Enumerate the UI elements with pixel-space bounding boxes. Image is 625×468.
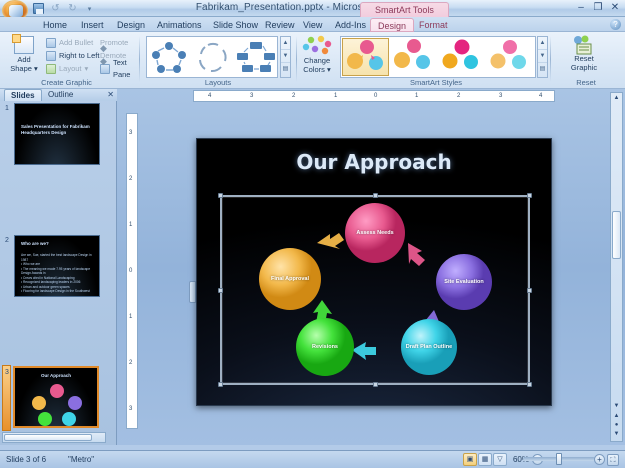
smartart-placeholder-frame[interactable]: Assess Needs Site Evaluation Draft Plan … [220, 195, 530, 385]
add-bullet-label: Add Bullet [59, 37, 93, 49]
main-vertical-scrollbar[interactable]: ▲ ▼ ▲ ● ▼ [610, 92, 623, 442]
style-preview-icon-3 [438, 38, 483, 74]
layouts-gallery-scroll[interactable]: ▲ ▼ ▤ [280, 36, 291, 78]
ribbon-group-layouts: ▲ ▼ ▤ Layouts [144, 33, 292, 87]
window-controls: – ❐ ✕ [574, 1, 622, 14]
right-to-left-label: Right to Left [59, 50, 99, 62]
smartart-style-option-3[interactable] [438, 38, 485, 76]
arrow-final-to-assess [317, 233, 344, 249]
right-to-left-button[interactable]: Right to Left [46, 49, 102, 62]
slides-pane-tabs: Slides Outline ✕ [0, 89, 117, 101]
slide-number-2: 2 [2, 237, 12, 244]
layout-option-2[interactable] [192, 38, 234, 76]
slide-thumbnail-list[interactable]: 1 Sales Presentation for Fabrikam Headqu… [0, 101, 108, 445]
change-colors-icon [302, 35, 332, 57]
slide-sorter-icon[interactable]: ▦ [478, 453, 492, 466]
hruler-tick-3r: 3 [499, 93, 502, 99]
vruler-tick-0: 0 [129, 268, 132, 274]
layout-option-1[interactable] [148, 38, 190, 76]
group-label-reset: Reset [556, 78, 616, 87]
vruler-tick-2t: 2 [129, 176, 132, 182]
add-shape-label-2: Shape [10, 64, 32, 73]
smartart-style-option-4[interactable] [486, 38, 533, 76]
style-preview-icon-4 [486, 38, 531, 74]
hruler-tick-4r: 4 [539, 93, 542, 99]
hruler-tick-2l: 2 [292, 93, 295, 99]
gallery-more-icon[interactable]: ▤ [281, 63, 290, 76]
add-bullet-button[interactable]: Add Bullet [46, 36, 102, 49]
smartart-node-revisions[interactable]: Revisions [301, 336, 349, 358]
tab-review[interactable]: Review [258, 18, 302, 32]
view-buttons: ▣ ▦ ▽ [463, 453, 507, 466]
hruler-tick-3l: 3 [250, 93, 253, 99]
vruler-tick-2b: 2 [129, 360, 132, 366]
block-cycle-icon [235, 38, 277, 76]
smartart-styles-scroll[interactable]: ▲ ▼ ▤ [537, 36, 548, 78]
vruler-tick-1b: 1 [129, 314, 132, 320]
add-shape-button[interactable]: Add Shape ▾ [6, 35, 42, 77]
smartart-style-option-2[interactable] [390, 38, 437, 76]
thumbnail-image-3[interactable]: Our Approach [13, 366, 99, 428]
segmented-cycle-icon [192, 38, 234, 76]
layout-icon [46, 64, 56, 74]
document-title: Fabrikam_Presentation.pptx - Microsoft P… [0, 2, 625, 13]
scroll-down-icon[interactable]: ▼ [612, 402, 621, 411]
tab-insert[interactable]: Insert [74, 18, 111, 32]
zoom-in-icon[interactable]: + [594, 454, 605, 465]
slides-pane: Slides Outline ✕ 1 Sales Presentation fo… [0, 89, 117, 445]
thumb-smartart-icon-3 [15, 382, 99, 426]
fit-to-window-icon[interactable]: ⛶ [607, 454, 619, 466]
slide-thumbnail-3[interactable]: 3 Our Approach [0, 365, 108, 431]
theme-name: "Metro" [68, 455, 94, 464]
vertical-ruler[interactable]: 3 2 1 0 1 2 3 [126, 113, 138, 429]
normal-view-icon[interactable]: ▣ [463, 453, 477, 466]
arrow-assess-to-site [408, 243, 425, 266]
tab-design[interactable]: Design [110, 18, 152, 32]
text-pane-toggle-tab[interactable] [189, 281, 196, 303]
next-slide-icon[interactable]: ▼ [612, 430, 621, 439]
hruler-tick-0: 0 [374, 93, 377, 99]
slide-editing-canvas[interactable]: Our Approach [196, 138, 552, 406]
styles-scroll-up-icon[interactable]: ▲ [538, 37, 547, 50]
restore-icon[interactable]: ❐ [591, 1, 605, 14]
style-preview-icon-1 [343, 39, 388, 75]
layouts-gallery[interactable] [146, 36, 278, 78]
thumb-title-3: Our Approach [15, 373, 97, 379]
ribbon-group-smartart-styles: Change Colors ▾ [296, 33, 550, 87]
ribbon-group-create-graphic: Add Shape ▾ Add Bullet Right to Left Lay… [0, 33, 133, 87]
slide-indicator: Slide 3 of 6 [6, 455, 46, 464]
close-icon[interactable]: ✕ [608, 1, 622, 14]
vruler-tick-3t: 3 [129, 130, 132, 136]
layout-option-3[interactable] [235, 38, 277, 76]
scroll-up-icon[interactable]: ▲ [612, 94, 621, 103]
tab-smartart-design[interactable]: Design [370, 18, 414, 32]
ribbon-tab-strip: Home Insert Design Animations Slide Show… [0, 17, 625, 32]
title-bar: ↺ ↻ ▾ Fabrikam_Presentation.pptx - Micro… [0, 0, 625, 17]
thumb-title-2: Who are we? [21, 241, 94, 247]
change-colors-button[interactable]: Change Colors ▾ [298, 35, 336, 79]
zoom-slider-handle[interactable] [556, 453, 562, 465]
create-graphic-left-column: Add Bullet Right to Left Layout ▾ [46, 36, 102, 75]
previous-slide-icon[interactable]: ▲ [612, 412, 621, 421]
slide-thumbnail-1[interactable]: 1 Sales Presentation for Fabrikam Headqu… [0, 101, 108, 167]
smartart-node-site-evaluation[interactable]: Site Evaluation [440, 269, 488, 295]
hruler-tick-2r: 2 [457, 93, 460, 99]
right-to-left-icon [46, 51, 56, 61]
smartart-styles-gallery[interactable] [340, 36, 536, 78]
powerpoint-window: ↺ ↻ ▾ Fabrikam_Presentation.pptx - Micro… [0, 0, 625, 468]
slide-show-icon[interactable]: ▽ [493, 453, 507, 466]
tab-view[interactable]: View [296, 18, 329, 32]
smartart-style-option-1[interactable] [342, 38, 389, 76]
slide-title-text[interactable]: Our Approach [197, 150, 551, 174]
layout-label: Layout [59, 63, 82, 75]
horizontal-ruler[interactable]: 4 3 2 1 0 1 2 3 4 [193, 90, 555, 102]
group-separator-3 [550, 36, 551, 82]
vruler-tick-3b: 3 [129, 406, 132, 412]
hruler-tick-1l: 1 [334, 93, 337, 99]
text-pane-label: Text Pane [113, 57, 146, 81]
tab-smartart-format[interactable]: Format [412, 18, 455, 32]
smartart-node-draft-plan-outline[interactable]: Draft Plan Outline [405, 334, 453, 360]
slides-pane-close-icon[interactable]: ✕ [107, 90, 114, 99]
vertical-scroll-thumb[interactable] [612, 211, 621, 259]
slide-number-1: 1 [2, 105, 12, 112]
reset-graphic-label-2: Graphic [571, 63, 597, 72]
smartart-node-final-approval[interactable]: Final Approval [266, 266, 314, 292]
arrow-draft-to-revisions [352, 342, 376, 360]
group-separator-1 [139, 36, 140, 82]
thumb-body-2: Are we, Sue, started the best landscape … [21, 253, 94, 294]
group-label-layouts: Layouts [144, 78, 292, 87]
thumb-title-1: Sales Presentation for Fabrikam Headquar… [21, 124, 94, 136]
add-bullet-icon [46, 38, 56, 48]
contextual-tab-group-label: SmartArt Tools [360, 2, 449, 18]
group-label-smartart-styles: SmartArt Styles [336, 78, 536, 87]
cycle-diagram-icon [148, 38, 190, 76]
reset-graphic-icon [572, 35, 596, 55]
slides-pane-horizontal-scrollbar[interactable] [2, 432, 106, 443]
tab-animations[interactable]: Animations [150, 18, 209, 32]
ribbon: Add Shape ▾ Add Bullet Right to Left Lay… [0, 32, 625, 89]
slide-number-3: 3 [2, 369, 12, 376]
smartart-node-assess-needs[interactable]: Assess Needs [350, 219, 400, 247]
slides-pane-scroll-thumb[interactable] [4, 434, 92, 441]
group-label-create-graphic: Create Graphic [0, 78, 133, 87]
tab-outline[interactable]: Outline [42, 89, 79, 101]
change-colors-label-2: Colors [303, 65, 325, 74]
reset-graphic-button[interactable]: Reset Graphic [562, 35, 606, 79]
zoom-slider[interactable] [523, 457, 595, 461]
ribbon-group-reset: Reset Graphic Reset [556, 33, 616, 87]
thumbnail-image-1[interactable]: Sales Presentation for Fabrikam Headquar… [14, 103, 100, 165]
layout-button[interactable]: Layout ▾ [46, 62, 102, 75]
help-icon[interactable]: ? [610, 19, 621, 30]
style-preview-icon-2 [390, 38, 435, 74]
add-shape-icon [14, 36, 34, 54]
hruler-tick-1r: 1 [415, 93, 418, 99]
minimize-icon[interactable]: – [574, 1, 588, 14]
slide-thumbnail-2[interactable]: 2 Who are we? Are we, Sue, started the b… [0, 233, 108, 299]
styles-scroll-down-icon[interactable]: ▼ [538, 50, 547, 63]
gallery-scroll-down-icon[interactable]: ▼ [281, 50, 290, 63]
tab-slides[interactable]: Slides [4, 89, 42, 101]
thumbnail-image-2[interactable]: Who are we? Are we, Sue, started the bes… [14, 235, 100, 297]
gallery-scroll-up-icon[interactable]: ▲ [281, 37, 290, 50]
vruler-tick-1t: 1 [129, 222, 132, 228]
styles-more-icon[interactable]: ▤ [538, 63, 547, 76]
tab-home[interactable]: Home [36, 18, 74, 32]
tab-add-ins[interactable]: Add-Ins [328, 18, 373, 32]
tab-slide-show[interactable]: Slide Show [206, 18, 265, 32]
status-bar: Slide 3 of 6 "Metro" ▣ ▦ ▽ 60% − + ⛶ [0, 450, 625, 468]
hruler-tick-4l: 4 [208, 93, 211, 99]
slide-dot-icon[interactable]: ● [612, 421, 621, 430]
